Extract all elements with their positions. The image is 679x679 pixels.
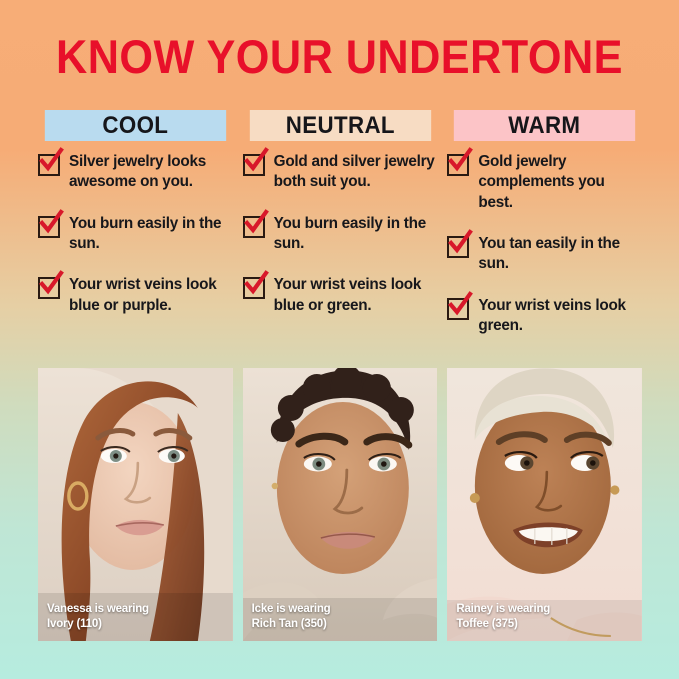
column-header-neutral: NEUTRAL <box>249 110 430 141</box>
checklist-item-label: Gold jewelry complements you best. <box>478 152 642 213</box>
portrait-rainey <box>447 368 642 641</box>
checklist-item[interactable]: Gold and silver jewelry both suit you. <box>243 152 438 193</box>
checklist-item-label: Gold and silver jewelry both suit you. <box>274 152 438 193</box>
checkmark-icon[interactable] <box>447 154 469 176</box>
checklist-item[interactable]: You tan easily in the sun. <box>447 234 642 275</box>
checklist-item[interactable]: Silver jewelry looks awesome on you. <box>38 152 233 193</box>
checklist-item-label: You burn easily in the sun. <box>274 214 438 255</box>
column-header-cool-label: COOL <box>102 112 168 140</box>
checklist-item-label: Your wrist veins look blue or green. <box>274 275 438 316</box>
column-header-warm-label: WARM <box>509 112 581 140</box>
checklist-item-label: You burn easily in the sun. <box>69 214 233 255</box>
checkmark-icon[interactable] <box>38 154 60 176</box>
checklist-item-label: Silver jewelry looks awesome on you. <box>69 152 233 193</box>
model-photo-row: Vanessa is wearing Ivory (110) <box>38 368 642 641</box>
portrait-vanessa <box>38 368 233 641</box>
photo-caption: Icke is wearing Rich Tan (350) <box>252 602 331 631</box>
model-photo-cool: Vanessa is wearing Ivory (110) <box>38 368 233 641</box>
checkmark-icon[interactable] <box>243 216 265 238</box>
page-title: KNOW YOUR UNDERTONE <box>27 33 652 80</box>
checkmark-icon[interactable] <box>447 236 469 258</box>
checklist-item[interactable]: You burn easily in the sun. <box>243 214 438 255</box>
model-photo-neutral: Icke is wearing Rich Tan (350) <box>243 368 438 641</box>
column-header-cool: COOL <box>45 110 226 141</box>
checklist-item-label: Your wrist veins look green. <box>478 296 642 337</box>
checkmark-icon[interactable] <box>38 277 60 299</box>
checklist-columns: Silver jewelry looks awesome on you. You… <box>38 152 642 357</box>
checklist-item-label: You tan easily in the sun. <box>478 234 642 275</box>
portrait-icke <box>243 368 438 641</box>
checklist-item[interactable]: Your wrist veins look blue or green. <box>243 275 438 316</box>
checklist-item[interactable]: Your wrist veins look blue or purple. <box>38 275 233 316</box>
column-header-row: COOL NEUTRAL WARM <box>38 110 642 141</box>
checkmark-icon[interactable] <box>38 216 60 238</box>
photo-caption: Vanessa is wearing Ivory (110) <box>47 602 149 631</box>
column-header-neutral-label: NEUTRAL <box>285 112 394 140</box>
checkmark-icon[interactable] <box>243 154 265 176</box>
checklist-item-label: Your wrist veins look blue or purple. <box>69 275 233 316</box>
checkmark-icon[interactable] <box>243 277 265 299</box>
checkmark-icon[interactable] <box>447 298 469 320</box>
checklist-column-warm: Gold jewelry complements you best. You t… <box>447 152 642 357</box>
column-header-warm: WARM <box>454 110 635 141</box>
checklist-item[interactable]: Gold jewelry complements you best. <box>447 152 642 213</box>
undertone-infographic: KNOW YOUR UNDERTONE COOL NEUTRAL WARM Si… <box>0 0 679 679</box>
model-photo-warm: Rainey is wearing Toffee (375) <box>447 368 642 641</box>
checklist-column-neutral: Gold and silver jewelry both suit you. Y… <box>243 152 438 357</box>
checklist-column-cool: Silver jewelry looks awesome on you. You… <box>38 152 233 357</box>
checklist-item[interactable]: Your wrist veins look green. <box>447 296 642 337</box>
photo-caption: Rainey is wearing Toffee (375) <box>456 602 550 631</box>
checklist-item[interactable]: You burn easily in the sun. <box>38 214 233 255</box>
